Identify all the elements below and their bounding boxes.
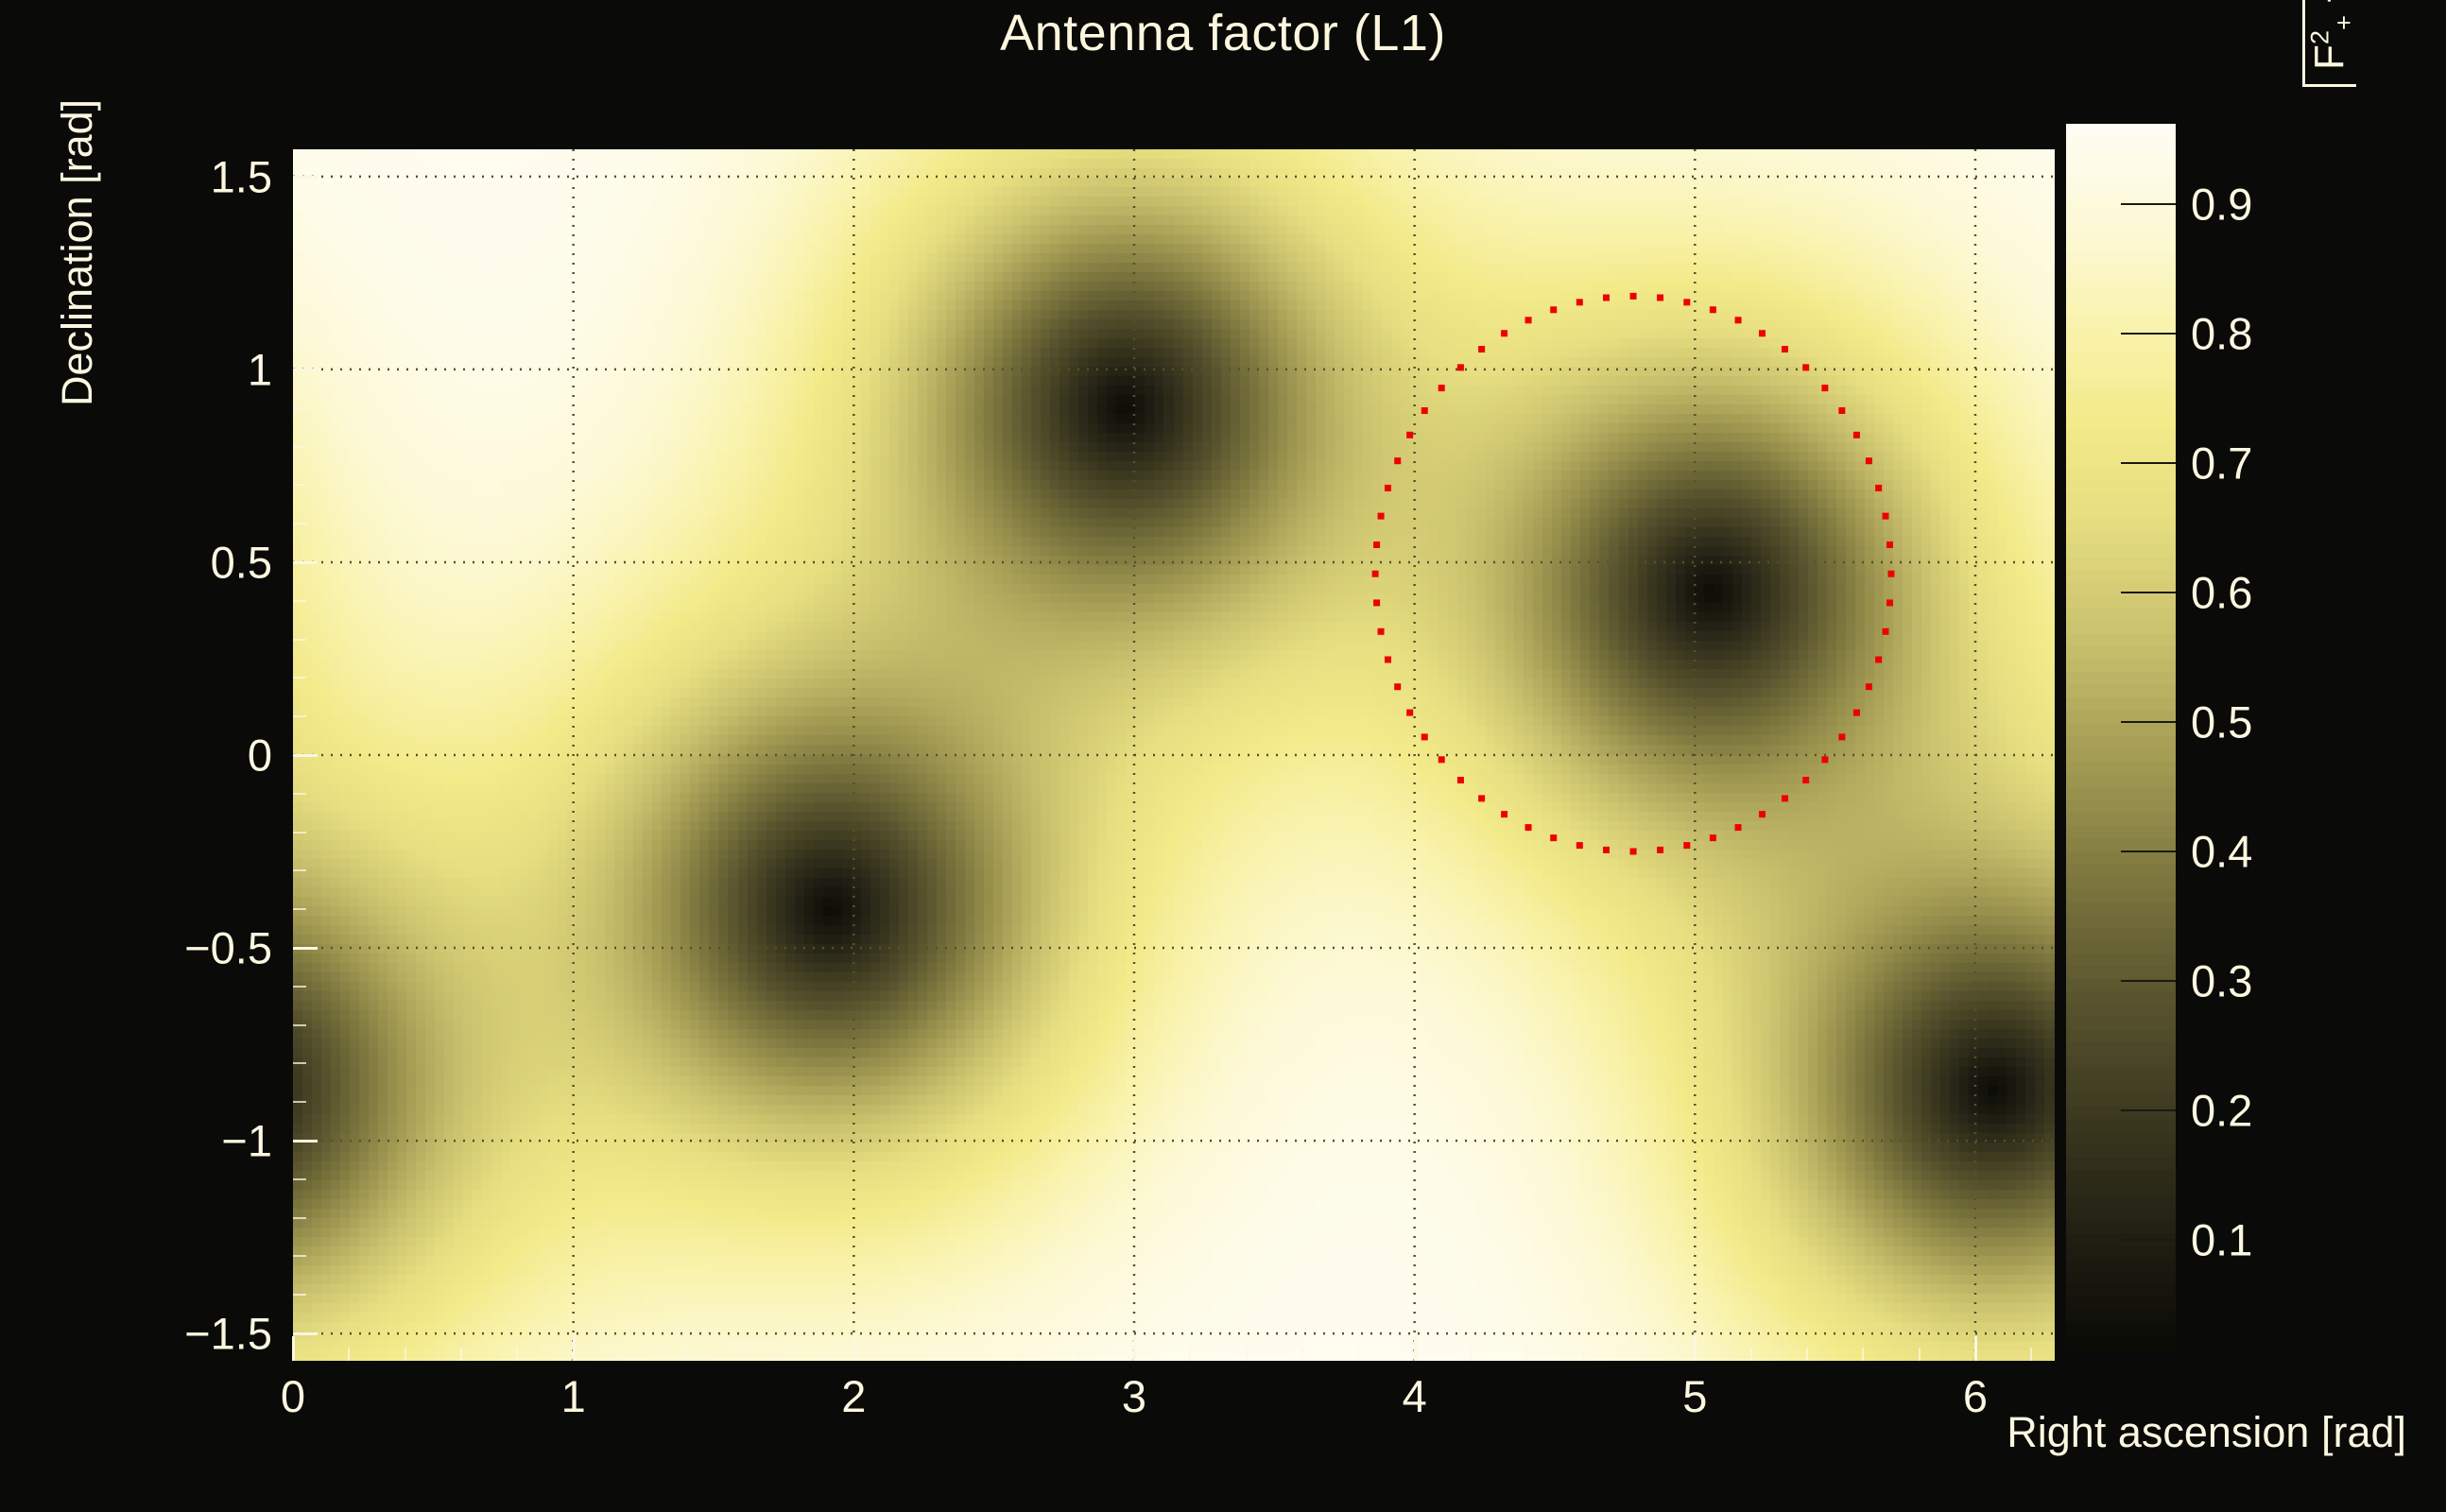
x-minor-tick: [629, 1348, 630, 1361]
antenna-factor-heatmap: [293, 149, 2055, 1361]
y-minor-tick: [293, 908, 306, 910]
y-tick-label: −0.5: [104, 922, 272, 974]
y-minor-tick: [293, 561, 306, 563]
x-minor-tick: [460, 1348, 462, 1361]
y-minor-tick: [293, 253, 306, 255]
colorbar-tick-mark: [2121, 203, 2176, 205]
y-tick-label: 1.5: [104, 150, 272, 202]
x-minor-tick: [1862, 1348, 1864, 1361]
y-minor-tick: [293, 1332, 306, 1334]
colorbar-title: F2+ + F2×: [2299, 0, 2358, 87]
y-minor-tick: [293, 407, 306, 409]
y-minor-tick: [293, 176, 306, 178]
x-tick-label: 4: [1403, 1370, 1427, 1422]
colorbar-title-text: F2+ + F2×: [2306, 0, 2352, 70]
colorbar-tick-mark: [2121, 721, 2176, 723]
y-minor-tick: [293, 1101, 306, 1103]
y-minor-tick: [293, 639, 306, 641]
y-minor-tick: [293, 330, 306, 332]
x-minor-tick: [965, 1348, 967, 1361]
x-minor-tick: [909, 1348, 911, 1361]
y-tick-label: −1.5: [104, 1308, 272, 1360]
x-minor-tick: [516, 1348, 518, 1361]
y-tick-label: 0.5: [104, 536, 272, 588]
y-minor-tick: [293, 947, 306, 949]
x-minor-tick: [405, 1348, 406, 1361]
chart-canvas: Antenna factor (L1) 0123456 1.510.50−0.5…: [0, 0, 2446, 1512]
y-minor-tick: [293, 215, 306, 216]
y-tick-label: −1: [104, 1115, 272, 1167]
colorbar-tick-mark: [2121, 333, 2176, 335]
y-minor-tick: [293, 369, 306, 370]
colorbar-tick-mark: [2121, 1239, 2176, 1241]
y-minor-tick: [293, 484, 306, 486]
colorbar: [2066, 124, 2176, 1349]
y-minor-tick: [293, 715, 306, 717]
colorbar-gradient: [2066, 124, 2176, 1349]
colorbar-tick-mark: [2121, 980, 2176, 982]
colorbar-tick-label: 0.1: [2191, 1213, 2252, 1265]
x-tick-label: 1: [561, 1370, 586, 1422]
x-minor-tick: [1133, 1348, 1135, 1361]
y-minor-tick: [293, 1178, 306, 1180]
x-minor-tick: [1750, 1348, 1752, 1361]
x-minor-tick: [741, 1348, 743, 1361]
x-minor-tick: [1414, 1348, 1416, 1361]
y-minor-tick: [293, 1255, 306, 1257]
y-tick-label: 1: [104, 343, 272, 395]
x-minor-tick: [1974, 1348, 1976, 1361]
x-minor-tick: [1919, 1348, 1921, 1361]
x-minor-tick: [853, 1348, 854, 1361]
x-tick-label: 5: [1682, 1370, 1707, 1422]
colorbar-tick-mark: [2121, 462, 2176, 464]
y-minor-tick: [293, 600, 306, 602]
x-tick-label: 2: [841, 1370, 866, 1422]
colorbar-tick-mark: [2121, 1109, 2176, 1111]
colorbar-tick-label: 0.8: [2191, 307, 2252, 359]
y-minor-tick: [293, 869, 306, 871]
colorbar-tick-label: 0.9: [2191, 178, 2252, 230]
x-minor-tick: [1638, 1348, 1640, 1361]
x-minor-tick: [348, 1348, 350, 1361]
x-minor-tick: [684, 1348, 686, 1361]
colorbar-tick-label: 0.5: [2191, 696, 2252, 747]
y-minor-tick: [293, 1062, 306, 1064]
y-minor-tick: [293, 1140, 306, 1142]
x-minor-tick: [1806, 1348, 1808, 1361]
y-minor-tick: [293, 1024, 306, 1026]
colorbar-tick-label: 0.4: [2191, 825, 2252, 877]
y-minor-tick: [293, 1217, 306, 1219]
colorbar-tick-label: 0.6: [2191, 566, 2252, 618]
x-minor-tick: [2030, 1348, 2032, 1361]
y-minor-tick: [293, 793, 306, 795]
x-minor-tick: [1077, 1348, 1079, 1361]
x-minor-tick: [1189, 1348, 1191, 1361]
x-minor-tick: [1021, 1348, 1023, 1361]
sqrt-bar: [2302, 0, 2305, 77]
x-minor-tick: [1301, 1348, 1303, 1361]
x-minor-tick: [1246, 1348, 1248, 1361]
y-minor-tick: [293, 523, 306, 524]
x-tick-label: 3: [1122, 1370, 1146, 1422]
y-tick-label: 0: [104, 730, 272, 782]
x-minor-tick: [797, 1348, 799, 1361]
y-minor-tick: [293, 677, 306, 679]
colorbar-tick-mark: [2121, 592, 2176, 593]
x-tick-label: 6: [1963, 1370, 1988, 1422]
x-minor-tick: [1357, 1348, 1359, 1361]
y-minor-tick: [293, 1294, 306, 1296]
y-minor-tick: [293, 291, 306, 293]
y-minor-tick: [293, 986, 306, 988]
colorbar-tick-label: 0.7: [2191, 437, 2252, 489]
y-minor-tick: [293, 754, 306, 756]
colorbar-tick-mark: [2121, 850, 2176, 852]
x-minor-tick: [1694, 1348, 1696, 1361]
y-minor-tick: [293, 832, 306, 833]
sqrt-expression: F2+ + F2×: [2299, 0, 2358, 87]
x-minor-tick: [292, 1348, 294, 1361]
x-minor-tick: [1582, 1348, 1584, 1361]
colorbar-tick-label: 0.3: [2191, 954, 2252, 1006]
x-tick-label: 0: [281, 1370, 305, 1422]
chart-title: Antenna factor (L1): [0, 4, 2446, 62]
x-minor-tick: [573, 1348, 575, 1361]
colorbar-tick-label: 0.2: [2191, 1084, 2252, 1136]
y-axis-title: Declination [rad]: [53, 99, 102, 406]
heatmap-plot-area: [293, 149, 2055, 1361]
y-minor-tick: [293, 446, 306, 448]
x-minor-tick: [1470, 1348, 1472, 1361]
x-axis-title: Right ascension [rad]: [2007, 1408, 2406, 1457]
x-minor-tick: [1525, 1348, 1527, 1361]
